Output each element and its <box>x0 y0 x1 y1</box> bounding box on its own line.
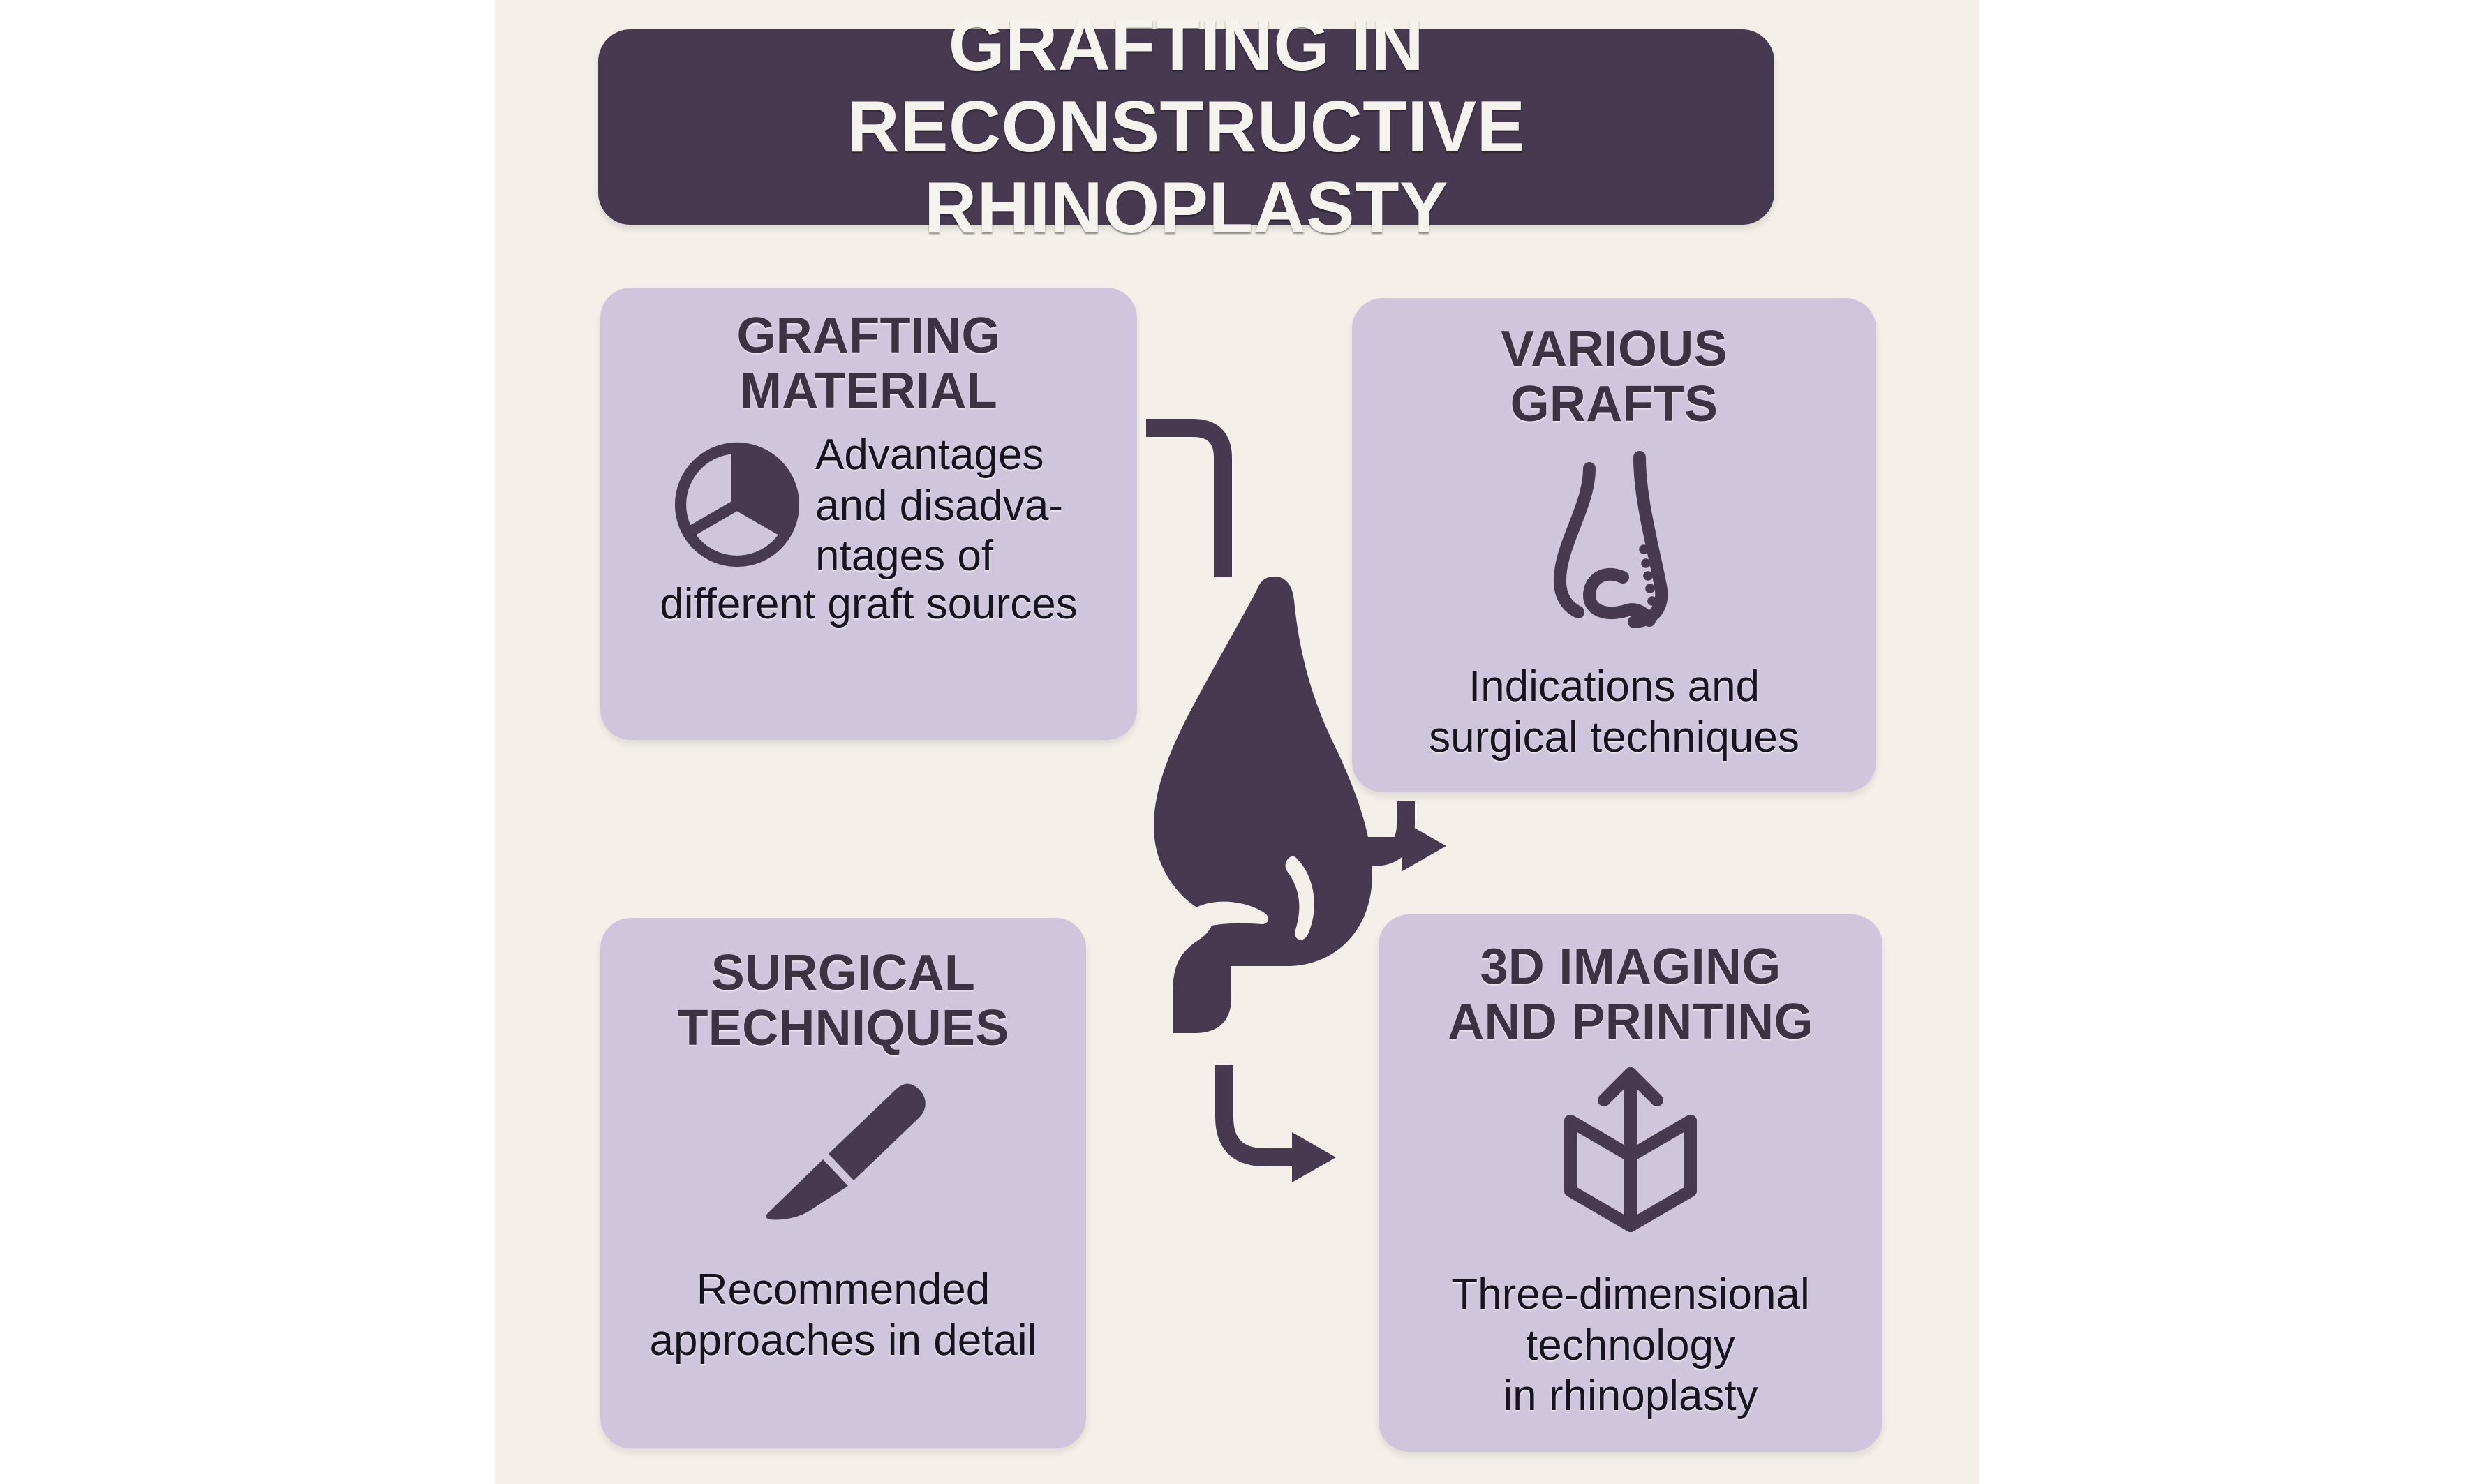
card-grafting-material[interactable]: GRAFTING MATERIAL Advantages and disadva <box>600 288 1137 740</box>
card-surgical-techniques-title: SURGICAL TECHNIQUES <box>677 946 1009 1056</box>
card-various-grafts[interactable]: VARIOUS GRAFTS Indications a <box>1352 298 1876 792</box>
arrow-grafting-material-to-center <box>1146 428 1223 577</box>
card-surgical-techniques-desc: Recommended approaches in detail <box>650 1265 1037 1366</box>
scalpel-icon <box>742 1080 944 1244</box>
nose-profile-icon <box>1517 443 1712 656</box>
page-title-bar: GRAFTING IN RECONSTRUCTIVE RHINOPLASTY <box>598 29 1774 225</box>
page-title: GRAFTING IN RECONSTRUCTIVE RHINOPLASTY <box>598 5 1774 248</box>
card-grafting-material-title: GRAFTING MATERIAL <box>736 309 1000 419</box>
card-3d-imaging-title: 3D IMAGING AND PRINTING <box>1448 940 1813 1050</box>
card-various-grafts-title: VARIOUS GRAFTS <box>1501 322 1728 432</box>
arrow-various-grafts-to-center <box>1286 801 1406 882</box>
arrow-center-to-surgical-techniques <box>1336 821 1446 907</box>
nose-silhouette-icon <box>1154 577 1372 1033</box>
card-surgical-techniques[interactable]: SURGICAL TECHNIQUES Recommended approach… <box>600 918 1086 1448</box>
card-grafting-material-desc-part1: Advantages and disadva- ntages of <box>815 430 1063 582</box>
card-3d-imaging-desc: Three-dimensional technology in rhinopla… <box>1451 1270 1809 1422</box>
card-grafting-material-desc-part2: different graft sources <box>600 579 1137 630</box>
card-3d-imaging-and-printing[interactable]: 3D IMAGING AND PRINTING <box>1379 914 1882 1452</box>
infographic-stage: GRAFTING IN RECONSTRUCTIVE RHINOPLASTY G… <box>0 0 2473 1484</box>
cube-arrow-up-icon <box>1540 1062 1721 1254</box>
pie-chart-icon <box>674 442 800 571</box>
card-grafting-material-body: Advantages and disadva- ntages of <box>600 430 1137 582</box>
arrow-center-to-3d-imaging <box>1224 1065 1336 1182</box>
artboard: GRAFTING IN RECONSTRUCTIVE RHINOPLASTY G… <box>495 0 1979 1484</box>
card-various-grafts-desc: Indications and surgical techniques <box>1429 662 1799 763</box>
